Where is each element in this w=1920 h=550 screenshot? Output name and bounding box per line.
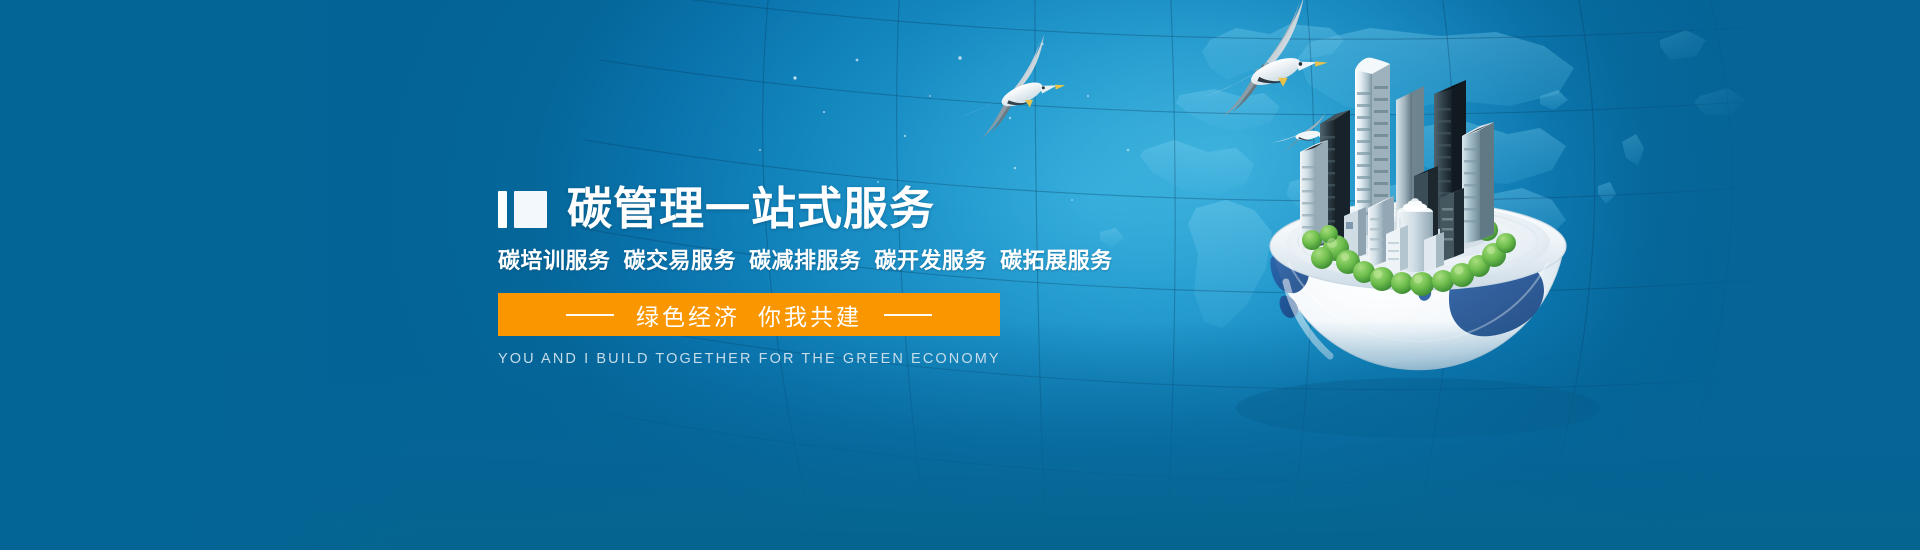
logo-bar-shape — [498, 191, 507, 228]
slogan-text: 绿色经济你我共建 — [636, 298, 862, 332]
banner-content: 碳管理一站式服务 碳培训服务碳交易服务碳减排服务碳开发服务碳拓展服务 绿色经济你… — [498, 182, 1418, 367]
slogan-right-rule — [884, 314, 932, 316]
service-item-2: 碳减排服务 — [749, 248, 862, 273]
service-item-1: 碳交易服务 — [624, 248, 737, 273]
page-title: 碳管理一站式服务 — [567, 186, 935, 231]
slogan-text-part1: 绿色经济 — [636, 304, 740, 330]
service-item-4: 碳拓展服务 — [1000, 248, 1113, 273]
english-tagline: YOU AND I BUILD TOGETHER FOR THE GREEN E… — [498, 351, 1000, 367]
seagull-large-icon — [949, 33, 1071, 141]
slogan-left-rule — [566, 314, 614, 316]
brand-logo-icon — [498, 191, 547, 228]
logo-square-shape — [514, 191, 547, 228]
slogan-banner: 绿色经济你我共建 — [498, 293, 1000, 336]
service-list: 碳培训服务碳交易服务碳减排服务碳开发服务碳拓展服务 — [498, 243, 1418, 275]
service-item-3: 碳开发服务 — [875, 248, 988, 273]
background-left-fade — [0, 0, 430, 550]
slogan-text-part2: 你我共建 — [758, 304, 862, 330]
sparkle-stars — [759, 43, 1129, 202]
title-row: 碳管理一站式服务 — [498, 182, 1418, 234]
promo-banner: 碳管理一站式服务 碳培训服务碳交易服务碳减排服务碳开发服务碳拓展服务 绿色经济你… — [0, 0, 1920, 550]
service-item-0: 碳培训服务 — [498, 248, 611, 273]
